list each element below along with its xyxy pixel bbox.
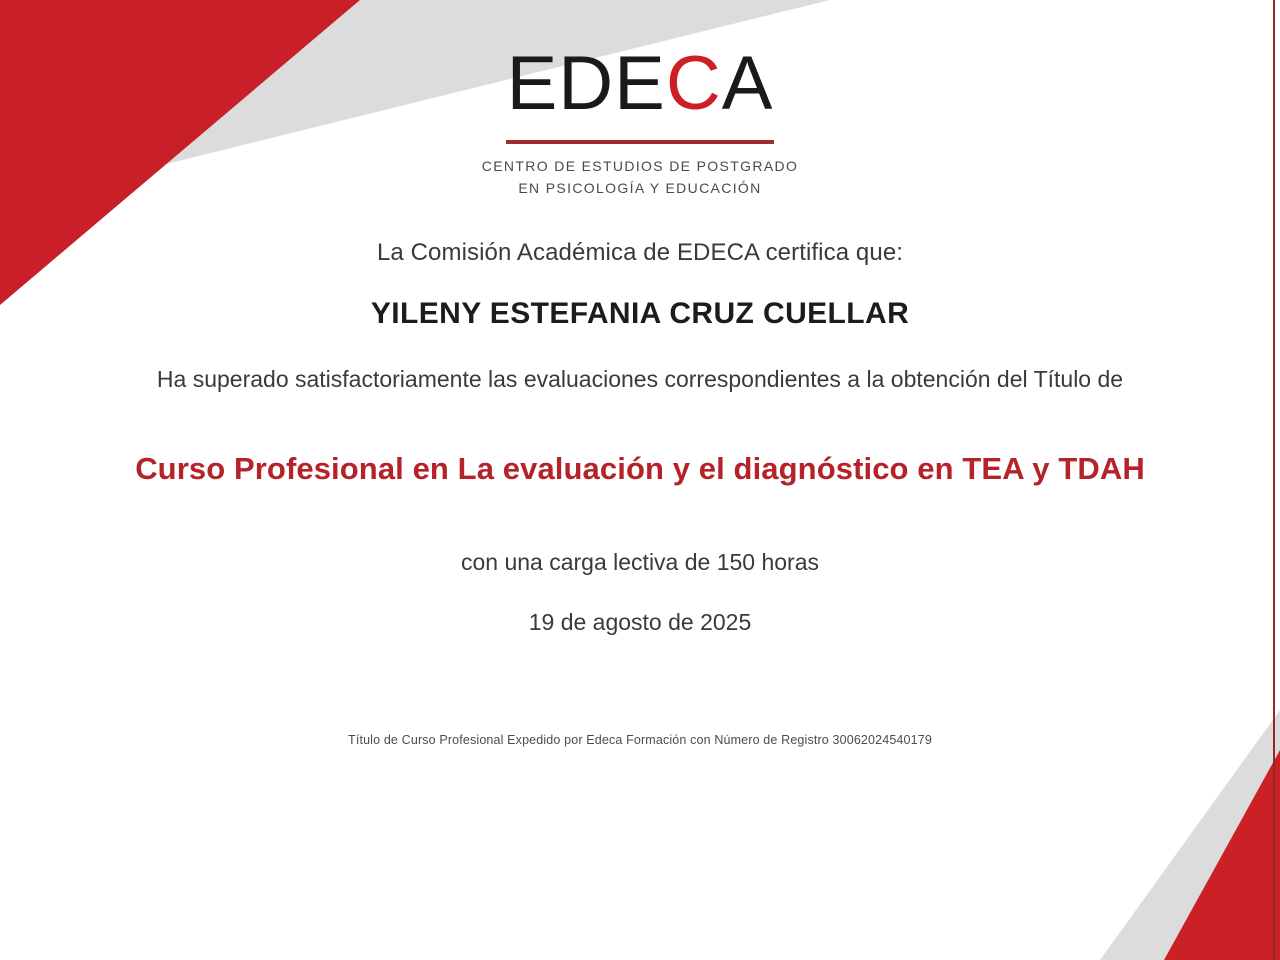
logo-wordmark-part-after: A bbox=[722, 41, 774, 126]
logo-wordmark: EDECA bbox=[507, 46, 774, 122]
logo-tagline-line-2: EN PSICOLOGÍA Y EDUCACIÓN bbox=[0, 178, 1280, 200]
certificate-page: EDECA CENTRO DE ESTUDIOS DE POSTGRADO EN… bbox=[0, 0, 1280, 960]
recipient-name: YILENY ESTEFANIA CRUZ CUELLAR bbox=[0, 297, 1280, 331]
certificate-content: EDECA CENTRO DE ESTUDIOS DE POSTGRADO EN… bbox=[0, 0, 1280, 960]
registry-footnote: Título de Curso Profesional Expedido por… bbox=[0, 733, 1280, 747]
logo-wordmark-accent-c: C bbox=[666, 41, 722, 126]
achievement-statement: Ha superado satisfactoriamente las evalu… bbox=[0, 366, 1280, 393]
issue-date: 19 de agosto de 2025 bbox=[0, 609, 1280, 636]
course-title: Curso Profesional en La evaluación y el … bbox=[0, 451, 1280, 487]
course-hours: con una carga lectiva de 150 horas bbox=[0, 549, 1280, 576]
logo-tagline-line-1: CENTRO DE ESTUDIOS DE POSTGRADO bbox=[0, 156, 1280, 178]
logo-underline-rule bbox=[506, 140, 774, 144]
logo-tagline: CENTRO DE ESTUDIOS DE POSTGRADO EN PSICO… bbox=[0, 156, 1280, 199]
edeca-logo: EDECA CENTRO DE ESTUDIOS DE POSTGRADO EN… bbox=[0, 0, 1280, 199]
certifies-statement: La Comisión Académica de EDECA certifica… bbox=[0, 239, 1280, 267]
logo-wordmark-part-before: EDE bbox=[507, 41, 666, 126]
